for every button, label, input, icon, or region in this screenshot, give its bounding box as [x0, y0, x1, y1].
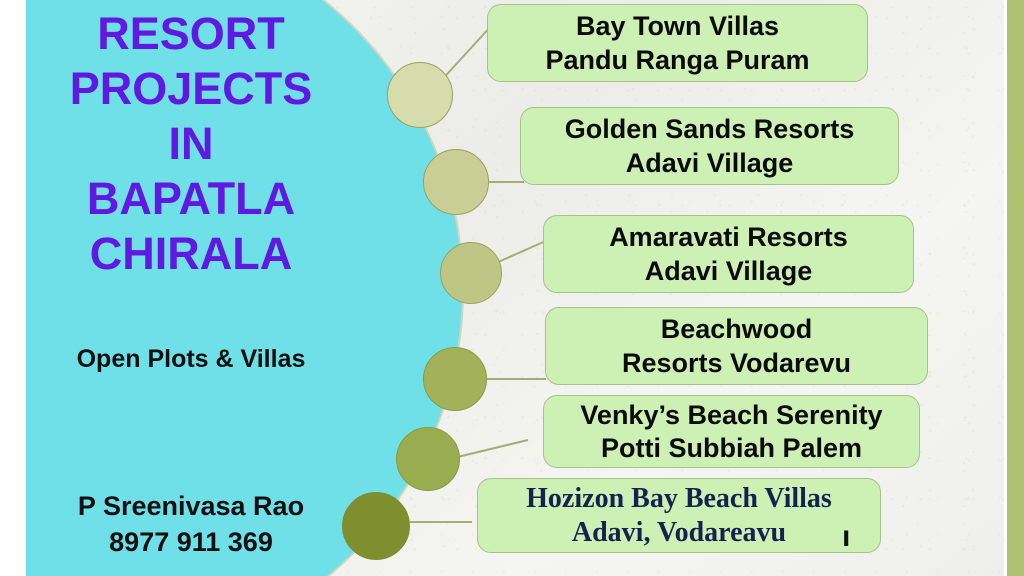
page-title-line-4: BAPATLA — [26, 171, 356, 226]
project-line-2: Adavi, Vodareavu — [572, 517, 786, 548]
page-title-line-3: IN — [26, 116, 356, 171]
project-line-2: Pandu Ranga Puram — [545, 45, 809, 75]
project-line-2: Adavi Village — [645, 256, 813, 286]
node-venkys-beach-serenity[interactable] — [396, 427, 460, 491]
page-title-line-2: PROJECTS — [26, 61, 356, 116]
node-amaravati-resorts[interactable] — [440, 242, 502, 304]
node-beachwood-resorts[interactable] — [423, 347, 487, 411]
poster-canvas: Bay Town Villas Pandu Ranga Puram Golden… — [0, 0, 1024, 576]
project-line-2: Potti Subbiah Palem — [601, 433, 862, 463]
node-bay-town-villas[interactable] — [387, 62, 453, 128]
label-box-golden-sands-resorts[interactable]: Golden Sands Resorts Adavi Village — [520, 107, 899, 185]
project-line-1: Golden Sands Resorts — [565, 114, 855, 144]
subtitle: Open Plots & Villas — [26, 345, 356, 374]
project-line-2: Resorts Vodarevu — [622, 348, 851, 378]
project-line-1: Beachwood — [661, 314, 813, 344]
contact-block: P Sreenivasa Rao 8977 911 369 — [26, 488, 356, 560]
node-golden-sands-resorts[interactable] — [423, 149, 489, 215]
project-line-1: Venky’s Beach Serenity — [580, 400, 882, 430]
page-title-line-5: CHIRALA — [26, 226, 356, 281]
stray-glyph: ı — [842, 522, 850, 552]
project-line-1: Bay Town Villas — [576, 11, 779, 41]
contact-name: P Sreenivasa Rao — [26, 488, 356, 524]
label-box-hozizon-bay-beach-villas[interactable]: Hozizon Bay Beach Villas Adavi, Vodareav… — [477, 478, 881, 553]
page-title: RESORT PROJECTS IN BAPATLA CHIRALA — [26, 6, 356, 281]
label-box-venkys-beach-serenity[interactable]: Venky’s Beach Serenity Potti Subbiah Pal… — [543, 395, 920, 468]
project-line-1: Hozizon Bay Beach Villas — [526, 483, 832, 514]
label-box-amaravati-resorts[interactable]: Amaravati Resorts Adavi Village — [543, 215, 914, 293]
left-panel: RESORT PROJECTS IN BAPATLA CHIRALA Open … — [26, 0, 356, 576]
label-box-beachwood-resorts[interactable]: Beachwood Resorts Vodarevu — [545, 307, 928, 385]
project-line-2: Adavi Village — [626, 148, 794, 178]
page-title-line-1: RESORT — [26, 6, 356, 61]
label-box-bay-town-villas[interactable]: Bay Town Villas Pandu Ranga Puram — [487, 4, 868, 82]
project-line-1: Amaravati Resorts — [609, 222, 848, 252]
contact-phone: 8977 911 369 — [26, 524, 356, 560]
